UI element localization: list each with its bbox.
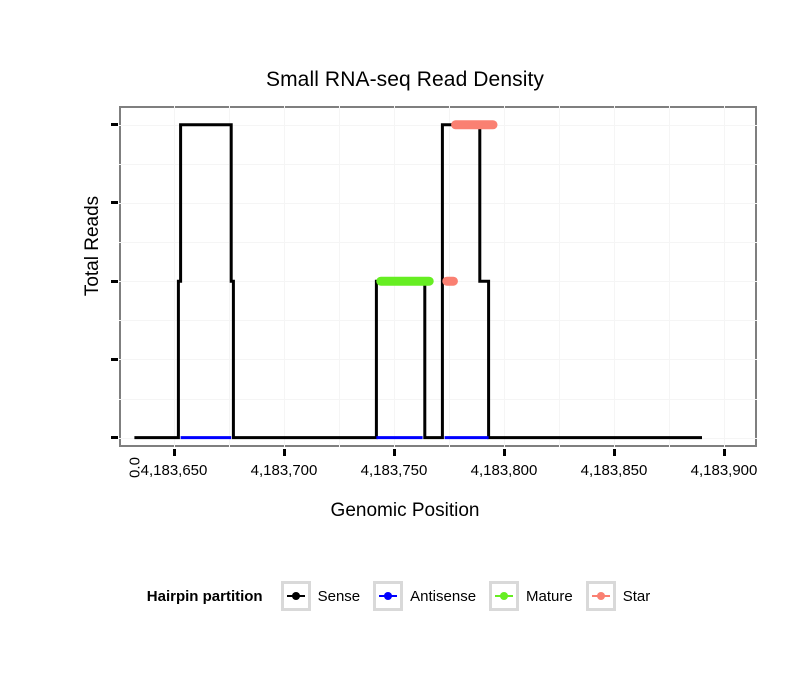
y-axis-title: Total Reads [82,146,104,346]
legend-label: Antisense [410,588,476,605]
legend-key-dot [292,592,300,600]
x-axis-title: Genomic Position [0,500,810,522]
x-tick-mark [613,449,616,456]
x-tick-mark [173,449,176,456]
legend-key-antisense [373,581,403,611]
chart-title: Small RNA-seq Read Density [0,68,810,92]
legend-key-dot [597,592,605,600]
x-tick-label: 4,183,900 [659,462,789,479]
legend-item-antisense[interactable]: Antisense [373,581,476,611]
y-tick-mark [111,436,118,439]
y-tick-mark [111,123,118,126]
x-tick-mark [503,449,506,456]
legend-item-sense[interactable]: Sense [281,581,361,611]
legend-key-star [586,581,616,611]
legend-key-sense [281,581,311,611]
y-tick-mark [111,201,118,204]
legend-label: Mature [526,588,573,605]
y-tick-mark [111,358,118,361]
plot-panel [119,106,757,447]
x-tick-mark [393,449,396,456]
legend-key-dot [500,592,508,600]
legend-items: SenseAntisenseMatureStar [281,581,664,611]
legend-title: Hairpin partition [147,588,263,605]
chart-root: Small RNA-seq Read Density Total Reads G… [0,0,810,690]
legend-key-mature [489,581,519,611]
y-tick-mark [111,280,118,283]
legend-item-mature[interactable]: Mature [489,581,573,611]
legend-key-dot [384,592,392,600]
legend-label: Sense [318,588,361,605]
plot-series-layer [119,106,757,447]
x-tick-mark [723,449,726,456]
legend: Hairpin partition SenseAntisenseMatureSt… [0,581,810,611]
x-tick-mark [283,449,286,456]
legend-item-star[interactable]: Star [586,581,651,611]
legend-label: Star [623,588,651,605]
